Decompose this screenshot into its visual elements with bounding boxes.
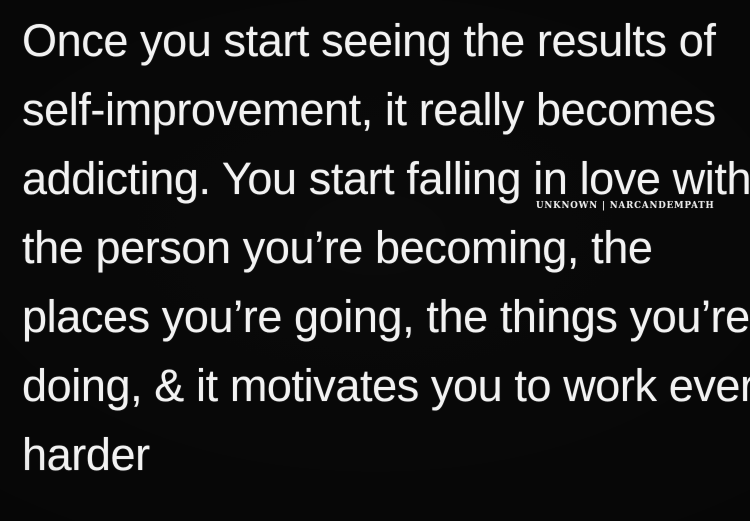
quote-line: self-improvement, it really becomes bbox=[22, 75, 750, 144]
quote-line: Once you start seeing the results of bbox=[22, 6, 750, 75]
quote-line: harder bbox=[22, 420, 750, 489]
quote-line: doing, & it motivates you to work ever bbox=[22, 351, 750, 420]
quote-line: places you’re going, the things you’re bbox=[22, 282, 750, 351]
quote-line: the person you’re becoming, the bbox=[22, 213, 750, 282]
quote-text-block: Once you start seeing the results of sel… bbox=[22, 6, 750, 489]
quote-image: Once you start seeing the results of sel… bbox=[0, 0, 750, 521]
attribution-credit: UNKNOWN | NARCANDEMPATH bbox=[536, 200, 715, 212]
